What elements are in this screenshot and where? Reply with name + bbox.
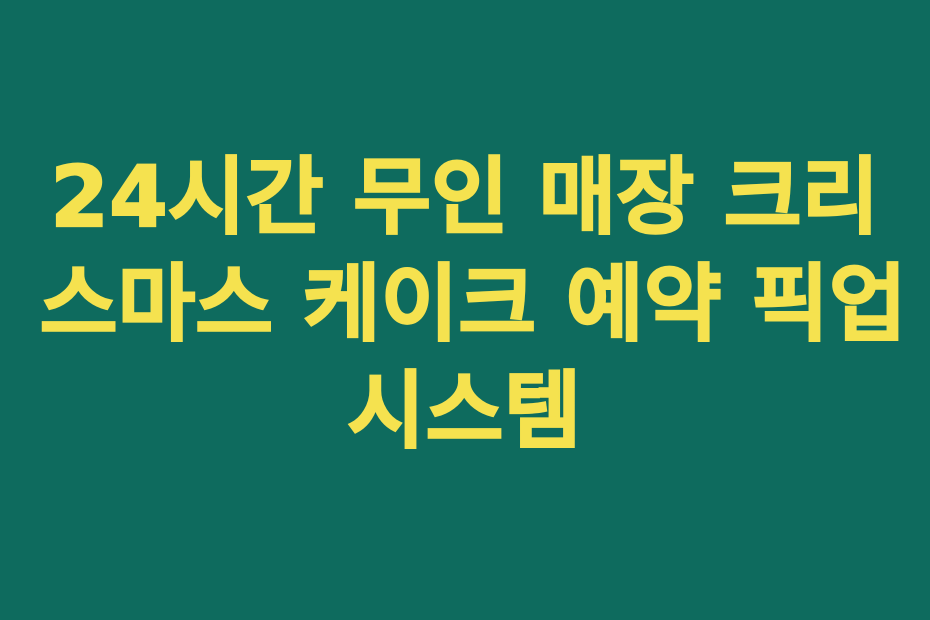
title-block: 24시간 무인 매장 크리 스마스 케이크 예약 픽업 시스템: [0, 144, 930, 465]
title-line-2: 스마스 케이크 예약 픽업: [40, 251, 890, 358]
title-line-1: 24시간 무인 매장 크리: [40, 144, 890, 251]
title-line-3: 시스템: [40, 358, 890, 465]
thumbnail-canvas: 24시간 무인 매장 크리 스마스 케이크 예약 픽업 시스템: [0, 0, 930, 620]
